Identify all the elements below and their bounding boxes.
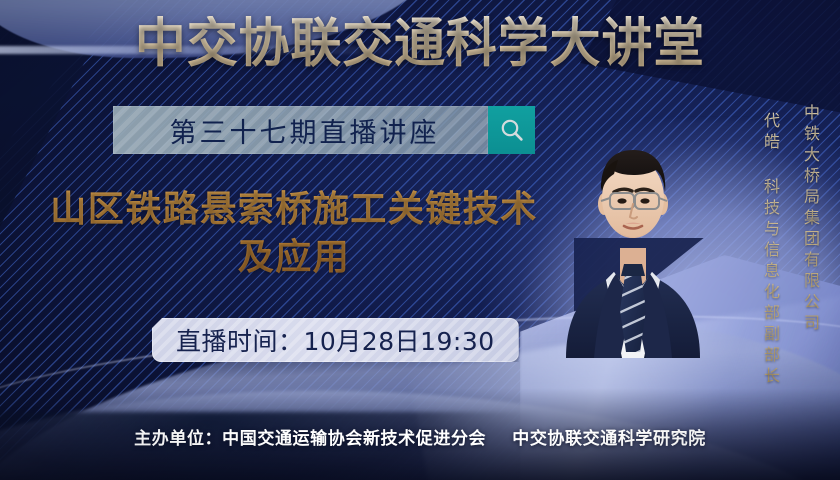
- search-button[interactable]: [488, 106, 535, 154]
- live-time-text: 直播时间：10月28日19:30: [176, 322, 495, 358]
- session-band: 第三十七期直播讲座: [113, 106, 488, 154]
- session-label: 第三十七期直播讲座: [113, 111, 488, 150]
- speaker-organization: 中铁大桥局集团有限公司: [798, 104, 822, 335]
- lecture-title: 山区铁路悬索桥施工关键技术及应用: [34, 186, 554, 282]
- live-time-pill: 直播时间：10月28日19:30: [152, 318, 519, 362]
- organizer-footer: 主办单位：中国交通运输协会新技术促进分会 中交协联交通科学研究院: [0, 424, 840, 449]
- poster-canvas: 中交协联交通科学大讲堂 第三十七期直播讲座 山区铁路悬索桥施工关键技术及应用 直…: [0, 0, 840, 480]
- poster-headline: 中交协联交通科学大讲堂: [17, 16, 823, 72]
- speaker-portrait: [548, 100, 718, 358]
- speaker-name-role: 代皓 科技与信息化部副部长: [758, 112, 782, 388]
- search-icon: [499, 117, 525, 143]
